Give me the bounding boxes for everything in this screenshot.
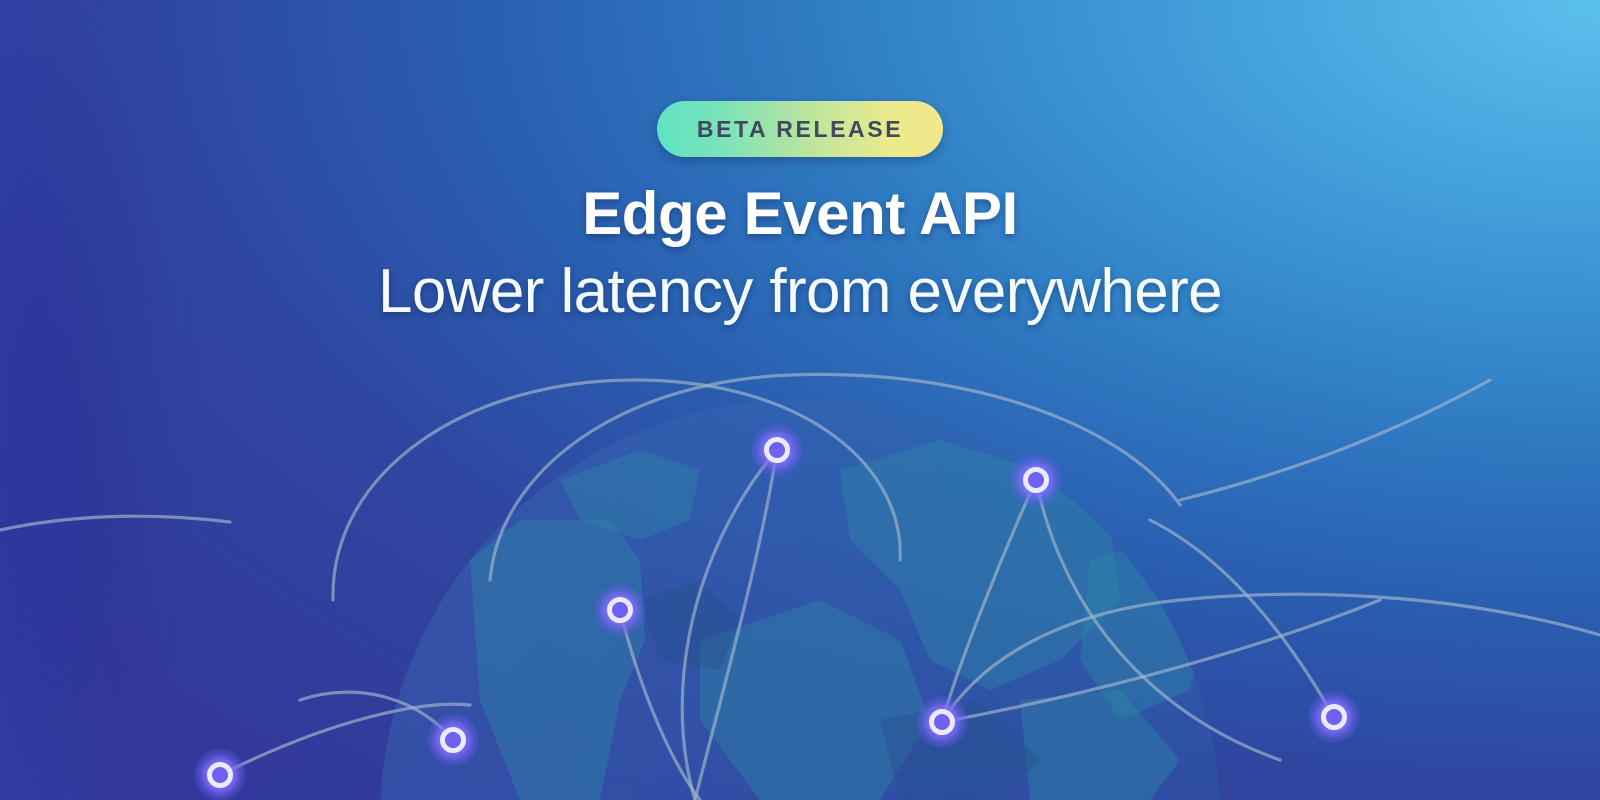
page-subtitle: Lower latency from everywhere <box>0 256 1600 327</box>
network-node-4[interactable] <box>916 696 968 748</box>
hero-banner: BETA RELEASE Edge Event API Lower latenc… <box>0 0 1600 800</box>
network-node-3[interactable] <box>594 584 646 636</box>
network-node-6[interactable] <box>427 714 479 766</box>
network-node-2[interactable] <box>1010 454 1062 506</box>
page-title: Edge Event API <box>0 179 1600 248</box>
network-node-7[interactable] <box>194 749 246 800</box>
network-node-1[interactable] <box>751 424 803 476</box>
hero-content: BETA RELEASE Edge Event API Lower latenc… <box>0 0 1600 327</box>
network-node-5[interactable] <box>1308 691 1360 743</box>
status-badge: BETA RELEASE <box>657 101 943 157</box>
